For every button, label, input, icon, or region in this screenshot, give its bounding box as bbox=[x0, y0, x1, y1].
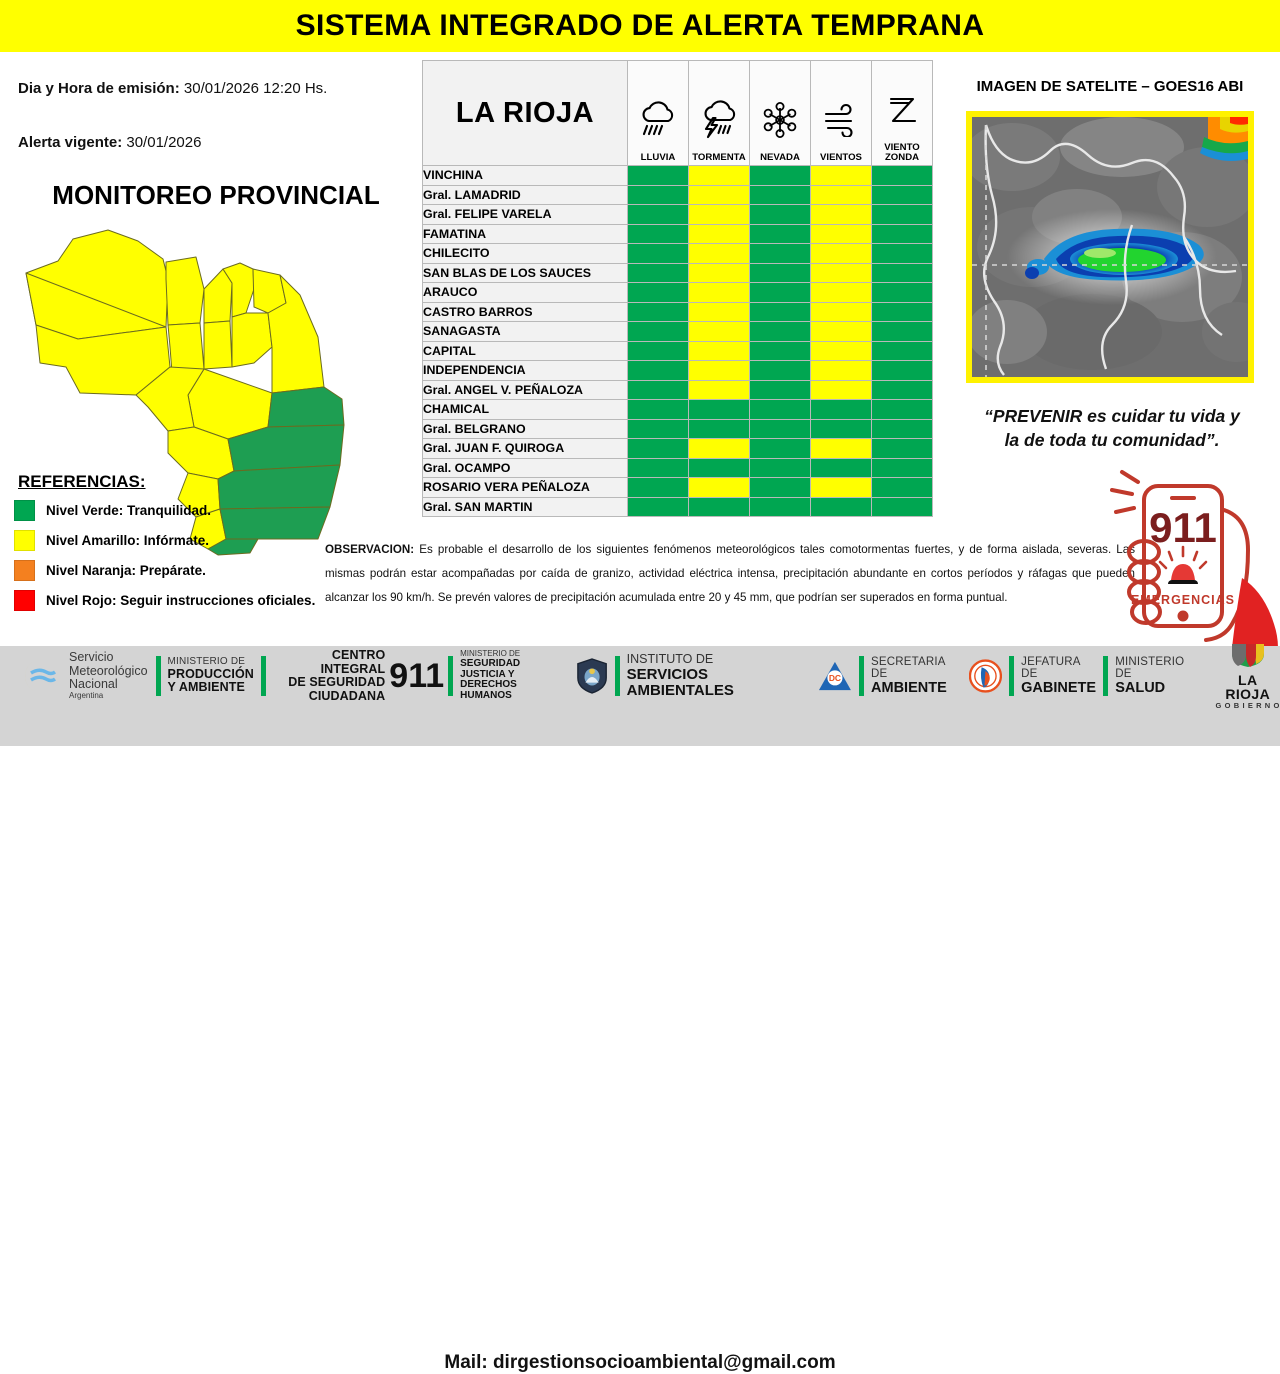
divider-6 bbox=[1009, 656, 1014, 696]
la-rioja-emblem-icon bbox=[1228, 642, 1268, 668]
alert-cell-viento-zonda bbox=[872, 244, 933, 264]
department-name: Gral. BELGRANO bbox=[423, 419, 628, 439]
legend-label-naranja: Nivel Naranja: Prepárate. bbox=[46, 563, 206, 578]
alert-cell-lluvia bbox=[628, 205, 689, 225]
department-name: SANAGASTA bbox=[423, 322, 628, 342]
observation-body: Es probable el desarrollo de los siguien… bbox=[325, 543, 1135, 604]
validity-label: Alerta vigente: bbox=[18, 134, 122, 151]
alert-cell-vientos bbox=[811, 478, 872, 498]
observation-label: OBSERVACION: bbox=[325, 543, 414, 556]
table-row: SAN BLAS DE LOS SAUCES bbox=[423, 263, 933, 283]
jg-big1: GABINETE bbox=[1021, 681, 1097, 697]
table-row: CHILECITO bbox=[423, 244, 933, 264]
logo-ministerio-produccion-ambiente: MINISTERIO DE PRODUCCIÓN Y AMBIENTE bbox=[168, 653, 254, 699]
snowflake-icon bbox=[750, 87, 810, 153]
logo-defensa-civil: DC SECRETARIA DE AMBIENTE bbox=[818, 653, 959, 699]
alert-cell-nevada bbox=[750, 361, 811, 381]
emission-label: Dia y Hora de emisión: bbox=[18, 80, 180, 97]
alert-cell-nevada bbox=[750, 322, 811, 342]
footer: Servicio Meteorológico Nacional Argentin… bbox=[0, 646, 1280, 746]
produccion-big1: PRODUCCIÓN bbox=[168, 668, 254, 682]
satellite-title: IMAGEN DE SATELITE – GOES16 ABI bbox=[940, 78, 1280, 95]
smn-line-4: Argentina bbox=[69, 692, 148, 701]
alert-cell-tormenta bbox=[689, 400, 750, 420]
observation-text: OBSERVACION: Es probable el desarrollo d… bbox=[325, 538, 1135, 609]
alert-cell-vientos bbox=[811, 302, 872, 322]
alert-cell-lluvia bbox=[628, 322, 689, 342]
alert-cell-nevada bbox=[750, 380, 811, 400]
msj-big1: SEGURIDAD bbox=[460, 659, 565, 670]
cisc-big2: DE SEGURIDAD bbox=[273, 676, 385, 690]
larioja-small: G O B I E R N O bbox=[1215, 701, 1280, 710]
divider-2 bbox=[261, 656, 266, 696]
table-row: CHAMICAL bbox=[423, 400, 933, 420]
alert-cell-nevada bbox=[750, 263, 811, 283]
salud-big1: SALUD bbox=[1115, 681, 1199, 697]
alert-cell-nevada bbox=[750, 185, 811, 205]
alert-cell-nevada bbox=[750, 458, 811, 478]
table-row: Gral. JUAN F. QUIROGA bbox=[423, 439, 933, 459]
divider-4 bbox=[615, 656, 620, 696]
table-row: CASTRO BARROS bbox=[423, 302, 933, 322]
cisc-911-number: 911 bbox=[389, 659, 444, 693]
alert-cell-lluvia bbox=[628, 400, 689, 420]
alert-cell-vientos bbox=[811, 224, 872, 244]
alert-cell-tormenta bbox=[689, 380, 750, 400]
department-name: CASTRO BARROS bbox=[423, 302, 628, 322]
alert-cell-vientos bbox=[811, 166, 872, 186]
emergency-911-badge: 911 EMERGENCIAS bbox=[1092, 468, 1280, 648]
alert-cell-tormenta bbox=[689, 224, 750, 244]
alert-cell-viento-zonda bbox=[872, 166, 933, 186]
table-row: VINCHINA bbox=[423, 166, 933, 186]
department-name: Gral. OCAMPO bbox=[423, 458, 628, 478]
badge-emergencias-caption: EMERGENCIAS bbox=[1131, 593, 1235, 607]
alert-cell-tormenta bbox=[689, 419, 750, 439]
zonda-wind-icon bbox=[872, 77, 932, 143]
alert-cell-lluvia bbox=[628, 380, 689, 400]
divider-7 bbox=[1103, 656, 1108, 696]
alert-cell-lluvia bbox=[628, 341, 689, 361]
table-row: Gral. BELGRANO bbox=[423, 419, 933, 439]
alert-cell-tormenta bbox=[689, 205, 750, 225]
legend-label-amarillo: Nivel Amarillo: Infórmate. bbox=[46, 533, 209, 548]
table-row: INDEPENDENCIA bbox=[423, 361, 933, 381]
alert-cell-tormenta bbox=[689, 439, 750, 459]
monitoring-title: MONITOREO PROVINCIAL bbox=[26, 180, 406, 211]
legend-label-verde: Nivel Verde: Tranquilidad. bbox=[46, 503, 211, 518]
logo-servicio-meteorologico-nacional: Servicio Meteorológico Nacional Argentin… bbox=[22, 653, 148, 699]
logo-ministerio-salud: MINISTERIO DE SALUD bbox=[1115, 653, 1199, 699]
department-name: Gral. LAMADRID bbox=[423, 185, 628, 205]
alert-cell-viento-zonda bbox=[872, 341, 933, 361]
alert-cell-vientos bbox=[811, 283, 872, 303]
alert-cell-lluvia bbox=[628, 185, 689, 205]
alert-cell-viento-zonda bbox=[872, 497, 933, 517]
secamb-big1: AMBIENTE bbox=[871, 681, 959, 697]
alert-cell-viento-zonda bbox=[872, 458, 933, 478]
alert-cell-lluvia bbox=[628, 419, 689, 439]
department-name: ARAUCO bbox=[423, 283, 628, 303]
logo-la-rioja-gobierno: LA RIOJA G O B I E R N O bbox=[1215, 653, 1280, 699]
alert-cell-viento-zonda bbox=[872, 185, 933, 205]
produccion-big2: Y AMBIENTE bbox=[168, 681, 254, 695]
department-name: Gral. FELIPE VARELA bbox=[423, 205, 628, 225]
defensa-civil-triangle-icon: DC bbox=[818, 659, 852, 693]
alert-cell-nevada bbox=[750, 341, 811, 361]
table-row: Gral. SAN MARTIN bbox=[423, 497, 933, 517]
jefatura-gabinete-seal-icon bbox=[969, 659, 1002, 693]
table-row: Gral. ANGEL V. PEÑALOZA bbox=[423, 380, 933, 400]
alert-cell-nevada bbox=[750, 400, 811, 420]
alert-cell-nevada bbox=[750, 205, 811, 225]
table-row: Gral. OCAMPO bbox=[423, 458, 933, 478]
larioja-big1: LA RIOJA bbox=[1215, 673, 1280, 701]
alert-cell-viento-zonda bbox=[872, 400, 933, 420]
alert-cell-viento-zonda bbox=[872, 361, 933, 381]
column-header-viento-zonda: VIENTO ZONDA bbox=[872, 61, 933, 166]
rain-cloud-icon bbox=[628, 87, 688, 153]
alert-cell-nevada bbox=[750, 478, 811, 498]
alert-cell-nevada bbox=[750, 166, 811, 186]
alert-cell-vientos bbox=[811, 263, 872, 283]
table-row: ROSARIO VERA PEÑALOZA bbox=[423, 478, 933, 498]
legend-swatch-rojo bbox=[14, 590, 35, 611]
column-label-viento-zonda: VIENTO ZONDA bbox=[872, 143, 932, 165]
alert-cell-nevada bbox=[750, 497, 811, 517]
badge-911-number: 911 bbox=[1149, 504, 1217, 551]
table-row: ARAUCO bbox=[423, 283, 933, 303]
alert-cell-nevada bbox=[750, 302, 811, 322]
alert-cell-vientos bbox=[811, 400, 872, 420]
legend-swatch-verde bbox=[14, 500, 35, 521]
logo-ministerio-seguridad-justicia: MINISTERIO DE SEGURIDAD JUSTICIA Y DEREC… bbox=[460, 653, 565, 699]
alert-cell-tormenta bbox=[689, 458, 750, 478]
alert-cell-nevada bbox=[750, 439, 811, 459]
alert-cell-lluvia bbox=[628, 263, 689, 283]
divider-3 bbox=[448, 656, 453, 696]
alert-cell-vientos bbox=[811, 322, 872, 342]
alert-cell-vientos bbox=[811, 244, 872, 264]
alert-cell-viento-zonda bbox=[872, 478, 933, 498]
department-name: INDEPENDENCIA bbox=[423, 361, 628, 381]
department-name: ROSARIO VERA PEÑALOZA bbox=[423, 478, 628, 498]
column-label-tormenta: TORMENTA bbox=[689, 153, 749, 165]
svg-text:DC: DC bbox=[829, 673, 841, 683]
references-title: REFERENCIAS: bbox=[14, 472, 354, 492]
contact-mail: Mail: dirgestionsocioambiental@gmail.com bbox=[0, 1352, 1280, 1374]
alert-validity: Alerta vigente: 30/01/2026 bbox=[18, 134, 201, 151]
alert-cell-lluvia bbox=[628, 302, 689, 322]
table-header-row: LA RIOJA LLUVIA bbox=[423, 61, 933, 166]
emission-value: 30/01/2026 12:20 Hs. bbox=[184, 80, 327, 97]
legend-swatch-naranja bbox=[14, 560, 35, 581]
logo-jefatura-gabinete: JEFATURA DE GABINETE bbox=[969, 653, 1097, 699]
alert-table-panel: LA RIOJA LLUVIA bbox=[422, 60, 934, 517]
divider-5 bbox=[859, 656, 864, 696]
police-shield-icon bbox=[576, 656, 608, 696]
alert-cell-tormenta bbox=[689, 478, 750, 498]
alert-cell-vientos bbox=[811, 439, 872, 459]
province-name: LA RIOJA bbox=[423, 97, 627, 130]
department-name: Gral. JUAN F. QUIROGA bbox=[423, 439, 628, 459]
alert-cell-lluvia bbox=[628, 458, 689, 478]
alert-cell-viento-zonda bbox=[872, 302, 933, 322]
alert-table: LA RIOJA LLUVIA bbox=[422, 60, 933, 517]
table-row: SANAGASTA bbox=[423, 322, 933, 342]
alert-cell-lluvia bbox=[628, 478, 689, 498]
legend-item-amarillo: Nivel Amarillo: Infórmate. bbox=[14, 530, 354, 551]
table-row: Gral. LAMADRID bbox=[423, 185, 933, 205]
legend-swatch-amarillo bbox=[14, 530, 35, 551]
alert-cell-vientos bbox=[811, 185, 872, 205]
department-name: VINCHINA bbox=[423, 166, 628, 186]
alert-cell-vientos bbox=[811, 380, 872, 400]
alert-cell-tormenta bbox=[689, 322, 750, 342]
table-row: FAMATINA bbox=[423, 224, 933, 244]
department-name: CHILECITO bbox=[423, 244, 628, 264]
thunderstorm-icon bbox=[689, 87, 749, 153]
alert-cell-viento-zonda bbox=[872, 205, 933, 225]
logo-centro-integral-seguridad-ciudadana: CENTRO INTEGRAL DE SEGURIDAD CIUDADANA 9… bbox=[273, 653, 444, 699]
alert-cell-tormenta bbox=[689, 497, 750, 517]
alert-cell-tormenta bbox=[689, 244, 750, 264]
legend-item-verde: Nivel Verde: Tranquilidad. bbox=[14, 500, 354, 521]
prevention-quote: “PREVENIR es cuidar tu vida y la de toda… bbox=[952, 405, 1272, 452]
table-row: CAPITAL bbox=[423, 341, 933, 361]
column-label-nevada: NEVADA bbox=[750, 153, 810, 165]
logo-strip: Servicio Meteorológico Nacional Argentin… bbox=[0, 646, 1280, 706]
secamb-small: SECRETARIA DE bbox=[871, 656, 959, 681]
alert-cell-tormenta bbox=[689, 341, 750, 361]
alert-cell-vientos bbox=[811, 419, 872, 439]
column-header-tormenta: TORMENTA bbox=[689, 61, 750, 166]
page-title: SISTEMA INTEGRADO DE ALERTA TEMPRANA bbox=[296, 9, 985, 43]
column-header-lluvia: LLUVIA bbox=[628, 61, 689, 166]
emission-datetime: Dia y Hora de emisión: 30/01/2026 12:20 … bbox=[18, 80, 327, 97]
satellite-image bbox=[966, 111, 1254, 383]
alert-cell-tormenta bbox=[689, 263, 750, 283]
alert-cell-viento-zonda bbox=[872, 322, 933, 342]
alert-cell-viento-zonda bbox=[872, 263, 933, 283]
alert-table-body: VINCHINAGral. LAMADRIDGral. FELIPE VAREL… bbox=[423, 166, 933, 517]
smn-line-3: Nacional bbox=[69, 678, 148, 692]
alert-cell-vientos bbox=[811, 341, 872, 361]
column-header-nevada: NEVADA bbox=[750, 61, 811, 166]
quote-line-1: “PREVENIR es cuidar tu vida y bbox=[952, 405, 1272, 429]
alert-cell-nevada bbox=[750, 224, 811, 244]
table-row: Gral. FELIPE VARELA bbox=[423, 205, 933, 225]
department-name: CAPITAL bbox=[423, 341, 628, 361]
salud-small: MINISTERIO DE bbox=[1115, 656, 1199, 681]
title-banner: SISTEMA INTEGRADO DE ALERTA TEMPRANA bbox=[0, 0, 1280, 52]
alert-cell-viento-zonda bbox=[872, 224, 933, 244]
alert-cell-lluvia bbox=[628, 361, 689, 381]
quote-line-2: la de toda tu comunidad”. bbox=[952, 429, 1272, 453]
alert-cell-viento-zonda bbox=[872, 283, 933, 303]
cisc-big1: CENTRO INTEGRAL bbox=[273, 649, 385, 676]
jg-small: JEFATURA DE bbox=[1021, 656, 1097, 681]
legend-item-rojo: Nivel Rojo: Seguir instrucciones oficial… bbox=[14, 590, 354, 611]
alert-cell-viento-zonda bbox=[872, 419, 933, 439]
alert-cell-viento-zonda bbox=[872, 380, 933, 400]
alert-cell-tormenta bbox=[689, 283, 750, 303]
cisc-big3: CIUDADANA bbox=[273, 690, 385, 704]
column-header-vientos: VIENTOS bbox=[811, 61, 872, 166]
alert-cell-lluvia bbox=[628, 497, 689, 517]
alert-cell-nevada bbox=[750, 283, 811, 303]
isa-small: INSTITUTO DE bbox=[627, 653, 809, 667]
alert-cell-lluvia bbox=[628, 283, 689, 303]
alert-cell-tormenta bbox=[689, 302, 750, 322]
alert-cell-tormenta bbox=[689, 361, 750, 381]
alert-cell-lluvia bbox=[628, 439, 689, 459]
alert-cell-vientos bbox=[811, 205, 872, 225]
alert-cell-vientos bbox=[811, 361, 872, 381]
department-name: CHAMICAL bbox=[423, 400, 628, 420]
province-header: LA RIOJA bbox=[423, 61, 628, 166]
isa-big1: SERVICIOS AMBIENTALES bbox=[627, 667, 809, 699]
legend-item-naranja: Nivel Naranja: Prepárate. bbox=[14, 560, 354, 581]
wind-icon bbox=[811, 87, 871, 153]
alert-cell-lluvia bbox=[628, 166, 689, 186]
column-label-lluvia: LLUVIA bbox=[628, 153, 688, 165]
alert-cell-lluvia bbox=[628, 244, 689, 264]
smn-line-1: Servicio bbox=[69, 651, 148, 665]
department-name: Gral. ANGEL V. PEÑALOZA bbox=[423, 380, 628, 400]
msj-big3: DERECHOS HUMANOS bbox=[460, 680, 565, 702]
alert-cell-nevada bbox=[750, 419, 811, 439]
alert-cell-lluvia bbox=[628, 224, 689, 244]
department-name: SAN BLAS DE LOS SAUCES bbox=[423, 263, 628, 283]
validity-value: 30/01/2026 bbox=[126, 134, 201, 151]
department-name: Gral. SAN MARTIN bbox=[423, 497, 628, 517]
smn-logo-icon bbox=[22, 656, 62, 696]
alert-cell-tormenta bbox=[689, 166, 750, 186]
legend-label-rojo: Nivel Rojo: Seguir instrucciones oficial… bbox=[46, 593, 315, 608]
alert-cell-tormenta bbox=[689, 185, 750, 205]
smn-line-2: Meteorológico bbox=[69, 665, 148, 679]
column-label-vientos: VIENTOS bbox=[811, 153, 871, 165]
logo-instituto-servicios-ambientales: INSTITUTO DE SERVICIOS AMBIENTALES bbox=[576, 653, 809, 699]
alert-cell-viento-zonda bbox=[872, 439, 933, 459]
alert-cell-vientos bbox=[811, 497, 872, 517]
alert-cell-vientos bbox=[811, 458, 872, 478]
divider-1 bbox=[156, 656, 161, 696]
department-name: FAMATINA bbox=[423, 224, 628, 244]
references-legend: REFERENCIAS: Nivel Verde: Tranquilidad. … bbox=[14, 472, 354, 620]
alert-cell-nevada bbox=[750, 244, 811, 264]
